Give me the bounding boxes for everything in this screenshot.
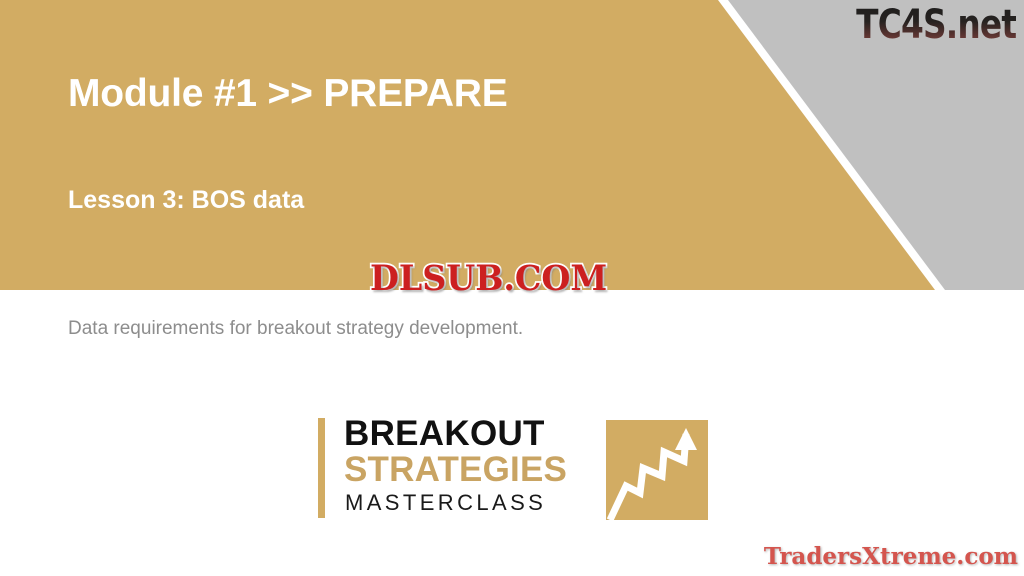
slide-caption: Data requirements for breakout strategy … (68, 318, 523, 340)
tradersxtreme-watermark: TradersXtreme.com (764, 543, 1018, 570)
tc4s-watermark: TC4S.net (856, 2, 1016, 48)
logo-line-masterclass: MASTERCLASS (345, 492, 546, 514)
breakout-strategies-logo: BREAKOUT STRATEGIES MASTERCLASS (318, 416, 710, 522)
logo-wordmark: BREAKOUT STRATEGIES MASTERCLASS (344, 416, 622, 522)
dlsub-watermark: DLSUB.COM (370, 258, 607, 299)
slide-canvas: Module #1 >> PREPARE Lesson 3: BOS data … (0, 0, 1024, 576)
page-title: Module #1 >> PREPARE (68, 72, 508, 117)
logo-accent-bar (318, 418, 325, 518)
upward-zigzag-arrow-icon (606, 420, 708, 520)
logo-line-breakout: BREAKOUT (344, 416, 545, 451)
logo-line-strategies: STRATEGIES (344, 452, 567, 487)
lesson-subtitle: Lesson 3: BOS data (68, 185, 304, 215)
